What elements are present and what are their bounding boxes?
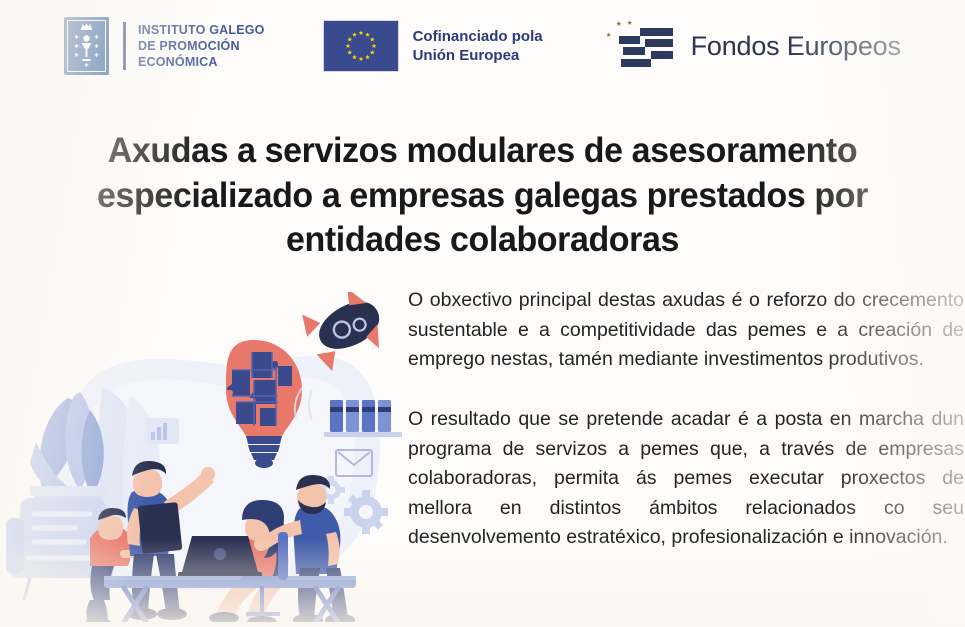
body-copy: O obxectivo principal destas axudas é o …	[408, 286, 964, 553]
logo-bar: INSTITUTO GALEGO DE PROMOCIÓN ECONÓMICA …	[0, 0, 965, 92]
logo-igape: INSTITUTO GALEGO DE PROMOCIÓN ECONÓMICA	[64, 17, 265, 75]
fondos-europeos-steps-icon	[601, 15, 679, 77]
paragraph-objective: O obxectivo principal destas axudas é o …	[408, 286, 964, 375]
logo-european-union: Cofinanciado pola Unión Europea	[323, 20, 543, 72]
european-union-flag-icon	[323, 20, 399, 72]
team-brainstorming-illustration	[6, 292, 402, 622]
logo-divider	[123, 22, 126, 70]
page-title: Axudas a servizos modulares de asesorame…	[49, 129, 915, 262]
igape-label: INSTITUTO GALEGO DE PROMOCIÓN ECONÓMICA	[138, 22, 265, 70]
fondos-europeos-label: Fondos Europeos	[691, 31, 901, 62]
paragraph-result: O resultado que se pretende acadar é a p…	[408, 405, 964, 553]
xunta-de-galicia-emblem	[64, 17, 109, 75]
european-union-label: Cofinanciado pola Unión Europea	[413, 27, 543, 66]
logo-fondos-europeos: Fondos Europeos	[601, 15, 901, 77]
